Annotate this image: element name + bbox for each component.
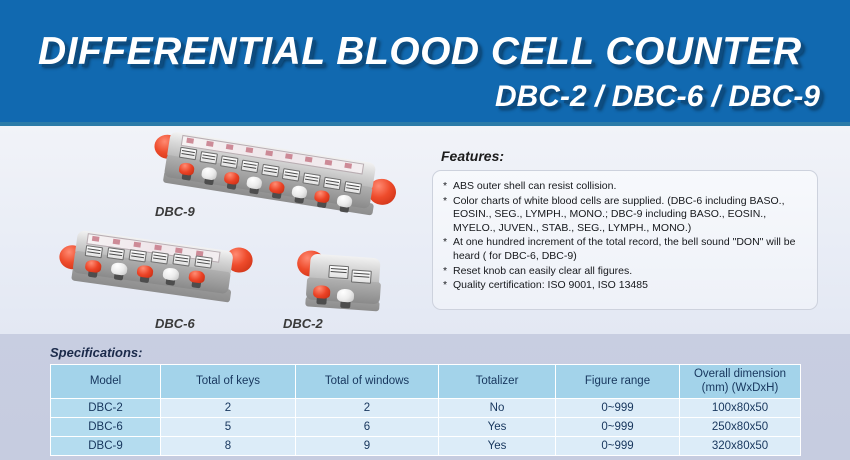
cell-model: DBC-2 — [51, 399, 161, 418]
dimension-line-1: Overall dimension — [694, 368, 786, 380]
feature-item: Reset knob can easily clear all figures. — [443, 265, 807, 279]
header-banner: DIFFERENTIAL BLOOD CELL COUNTER DBC-2 / … — [0, 0, 850, 122]
cell-keys: 8 — [161, 437, 296, 456]
column-header-model: Model — [51, 365, 161, 399]
page-title: DIFFERENTIAL BLOOD CELL COUNTER — [38, 30, 802, 74]
cell-keys: 5 — [161, 418, 296, 437]
cell-figure-range: 0~999 — [556, 418, 680, 437]
cell-totalizer: No — [439, 399, 556, 418]
table-row: DBC-2 2 2 No 0~999 100x80x50 — [51, 399, 801, 418]
table-header-row: Model Total of keys Total of windows Tot… — [51, 365, 801, 399]
cell-dimension: 100x80x50 — [680, 399, 801, 418]
column-header-dimension: Overall dimension (mm) (WxDxH) — [680, 365, 801, 399]
product-image-dbc6 — [45, 229, 295, 319]
page-subtitle: DBC-2 / DBC-6 / DBC-9 — [495, 80, 820, 114]
cell-dimension: 320x80x50 — [680, 437, 801, 456]
cell-windows: 2 — [296, 399, 439, 418]
product-label-dbc2: DBC-2 — [283, 316, 323, 331]
table-row: DBC-6 5 6 Yes 0~999 250x80x50 — [51, 418, 801, 437]
feature-item: At one hundred increment of the total re… — [443, 236, 807, 263]
features-heading: Features: — [441, 148, 504, 164]
feature-item: Color charts of white blood cells are su… — [443, 195, 807, 236]
features-box: ABS outer shell can resist collision. Co… — [432, 170, 818, 310]
table-row: DBC-9 8 9 Yes 0~999 320x80x50 — [51, 437, 801, 456]
product-label-dbc9: DBC-9 — [155, 204, 195, 219]
dimension-line-2: (mm) (WxDxH) — [702, 382, 779, 394]
product-label-dbc6: DBC-6 — [155, 316, 195, 331]
specifications-heading: Specifications: — [50, 345, 142, 360]
specifications-table: Model Total of keys Total of windows Tot… — [50, 364, 801, 456]
cell-windows: 6 — [296, 418, 439, 437]
product-image-dbc2 — [285, 244, 405, 319]
column-header-totalizer: Totalizer — [439, 365, 556, 399]
cell-figure-range: 0~999 — [556, 437, 680, 456]
feature-item: Quality certification: ISO 9001, ISO 134… — [443, 279, 807, 293]
cell-keys: 2 — [161, 399, 296, 418]
cell-windows: 9 — [296, 437, 439, 456]
cell-totalizer: Yes — [439, 418, 556, 437]
column-header-keys: Total of keys — [161, 365, 296, 399]
cell-dimension: 250x80x50 — [680, 418, 801, 437]
cell-model: DBC-9 — [51, 437, 161, 456]
column-header-windows: Total of windows — [296, 365, 439, 399]
cell-totalizer: Yes — [439, 437, 556, 456]
product-spec-sheet: DIFFERENTIAL BLOOD CELL COUNTER DBC-2 / … — [0, 0, 850, 460]
cell-figure-range: 0~999 — [556, 399, 680, 418]
feature-item: ABS outer shell can resist collision. — [443, 180, 807, 194]
column-header-figure-range: Figure range — [556, 365, 680, 399]
cell-model: DBC-6 — [51, 418, 161, 437]
